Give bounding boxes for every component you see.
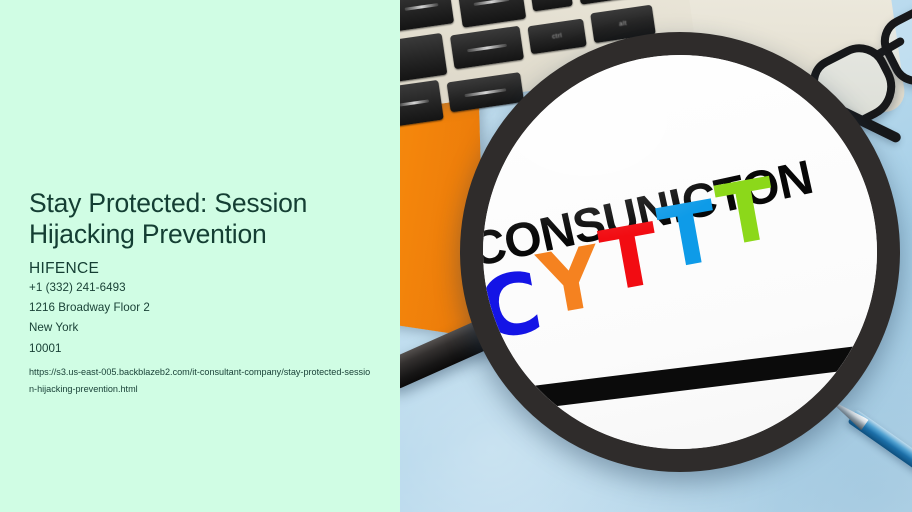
info-panel: Stay Protected: Session Hijacking Preven… [0,0,400,512]
keyboard-key [400,33,447,83]
company-name: HIFENCE [29,259,385,278]
hero-photo: enter ctrl alt [400,0,912,512]
keyboard-key [528,0,572,12]
contact-city: New York [29,318,385,338]
page-title: Stay Protected: Session Hijacking Preven… [29,188,385,250]
info-block: Stay Protected: Session Hijacking Preven… [29,188,385,399]
keyboard-key [400,0,454,32]
source-url[interactable]: https://s3.us-east-005.backblazeb2.com/i… [29,364,373,399]
contact-phone[interactable]: +1 (332) 241-6493 [29,278,385,298]
keyboard-key [400,80,444,127]
magnifier-ring: CONSUNICTON C Y T T T [460,32,900,472]
contact-street: 1216 Broadway Floor 2 [29,298,385,318]
keyboard-key [457,0,526,28]
share-preview-card: Stay Protected: Session Hijacking Preven… [0,0,912,512]
magnified-paper: CONSUNICTON C Y T T T [460,32,900,472]
magnifying-glass: CONSUNICTON C Y T T T [448,26,910,496]
contact-zip: 10001 [29,339,385,359]
keyboard-key-enter: enter [575,0,650,5]
